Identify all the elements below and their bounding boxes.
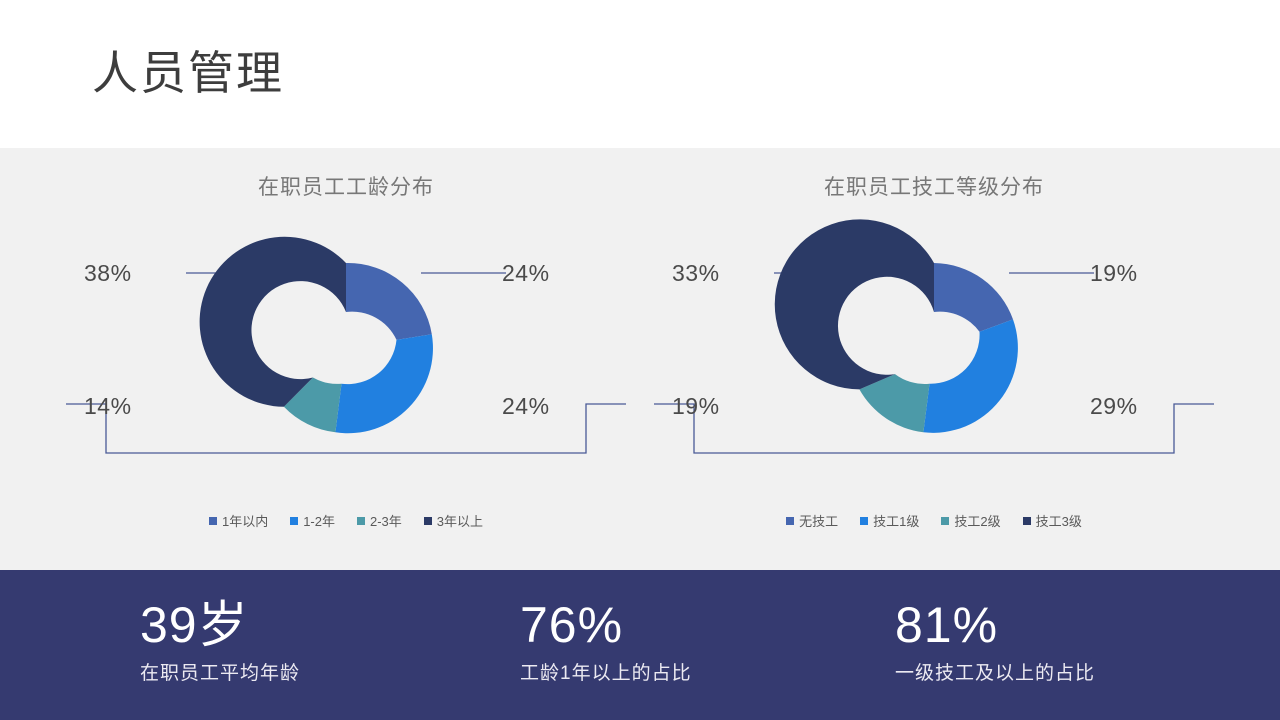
slide-root: 人员管理 在职员工工龄分布 [0, 0, 1280, 720]
donut-chart-skill-level [646, 208, 1222, 498]
pct-label-top-right: 19% [1090, 260, 1138, 287]
pct-label-bottom-left: 19% [672, 393, 720, 420]
legend-label: 1年以内 [222, 511, 268, 530]
legend-tenure: 1年以内 1-2年 2-3年 3年以上 [58, 511, 634, 530]
legend-swatch-icon [941, 517, 949, 525]
legend-swatch-icon [860, 517, 868, 525]
slide-header: 人员管理 [0, 0, 1280, 148]
pct-label-top-right: 24% [502, 260, 550, 287]
legend-swatch-icon [209, 517, 217, 525]
legend-label: 2-3年 [370, 511, 402, 530]
donut-segments-skill-level [775, 219, 1018, 432]
chart-title-skill-level: 在职员工技工等级分布 [646, 171, 1222, 201]
legend-skill-level: 无技工 技工1级 技工2级 技工3级 [646, 511, 1222, 530]
stats-bar: 39岁 在职员工平均年龄 76% 工龄1年以上的占比 81% 一级技工及以上的占… [0, 570, 1280, 720]
stat-value: 76% [520, 598, 692, 652]
stat-level1-and-above: 81% 一级技工及以上的占比 [895, 598, 1095, 685]
page-title: 人员管理 [92, 46, 284, 101]
pct-label-bottom-right: 29% [1090, 393, 1138, 420]
legend-item: 1年以内 [209, 511, 268, 530]
legend-label: 3年以上 [437, 511, 483, 530]
stat-tenure-over-1y: 76% 工龄1年以上的占比 [520, 598, 692, 685]
legend-swatch-icon [1023, 517, 1031, 525]
donut-wrap-skill-level: 33% 19% 19% 29% [646, 208, 1222, 498]
legend-label: 技工1级 [873, 511, 919, 530]
donut-segment-1 [346, 263, 432, 340]
stat-value: 81% [895, 598, 1095, 652]
stat-label: 一级技工及以上的占比 [895, 658, 1095, 685]
stat-label: 在职员工平均年龄 [140, 658, 300, 685]
chart-block-tenure: 在职员工工龄分布 [58, 148, 634, 570]
legend-label: 1-2年 [303, 511, 335, 530]
legend-item: 1-2年 [290, 511, 335, 530]
pct-label-bottom-right: 24% [502, 393, 550, 420]
donut-segment-4 [775, 219, 934, 389]
legend-item: 技工3级 [1023, 511, 1082, 530]
legend-swatch-icon [357, 517, 365, 525]
donut-segments-tenure [200, 237, 433, 433]
donut-chart-tenure [58, 208, 634, 498]
donut-segment-2 [335, 334, 433, 433]
donut-segment-2 [923, 319, 1017, 432]
stat-value: 39岁 [140, 598, 300, 652]
pct-label-bottom-left: 14% [84, 393, 132, 420]
legend-item: 技工1级 [860, 511, 919, 530]
legend-item: 无技工 [786, 511, 838, 530]
legend-item: 3年以上 [424, 511, 483, 530]
legend-label: 技工3级 [1036, 511, 1082, 530]
legend-swatch-icon [786, 517, 794, 525]
legend-label: 技工2级 [954, 511, 1000, 530]
charts-panel: 在职员工工龄分布 [0, 148, 1280, 570]
legend-swatch-icon [290, 517, 298, 525]
pct-label-top-left: 33% [672, 260, 720, 287]
donut-wrap-tenure: 38% 24% 14% 24% [58, 208, 634, 498]
donut-segment-4 [200, 237, 346, 407]
legend-item: 2-3年 [357, 511, 402, 530]
chart-block-skill-level: 在职员工技工等级分布 [646, 148, 1222, 570]
pct-label-top-left: 38% [84, 260, 132, 287]
chart-title-tenure: 在职员工工龄分布 [58, 171, 634, 201]
legend-item: 技工2级 [941, 511, 1000, 530]
stat-label: 工龄1年以上的占比 [520, 658, 692, 685]
donut-segment-1 [934, 263, 1013, 332]
stat-average-age: 39岁 在职员工平均年龄 [140, 598, 300, 685]
legend-label: 无技工 [799, 511, 838, 530]
legend-swatch-icon [424, 517, 432, 525]
